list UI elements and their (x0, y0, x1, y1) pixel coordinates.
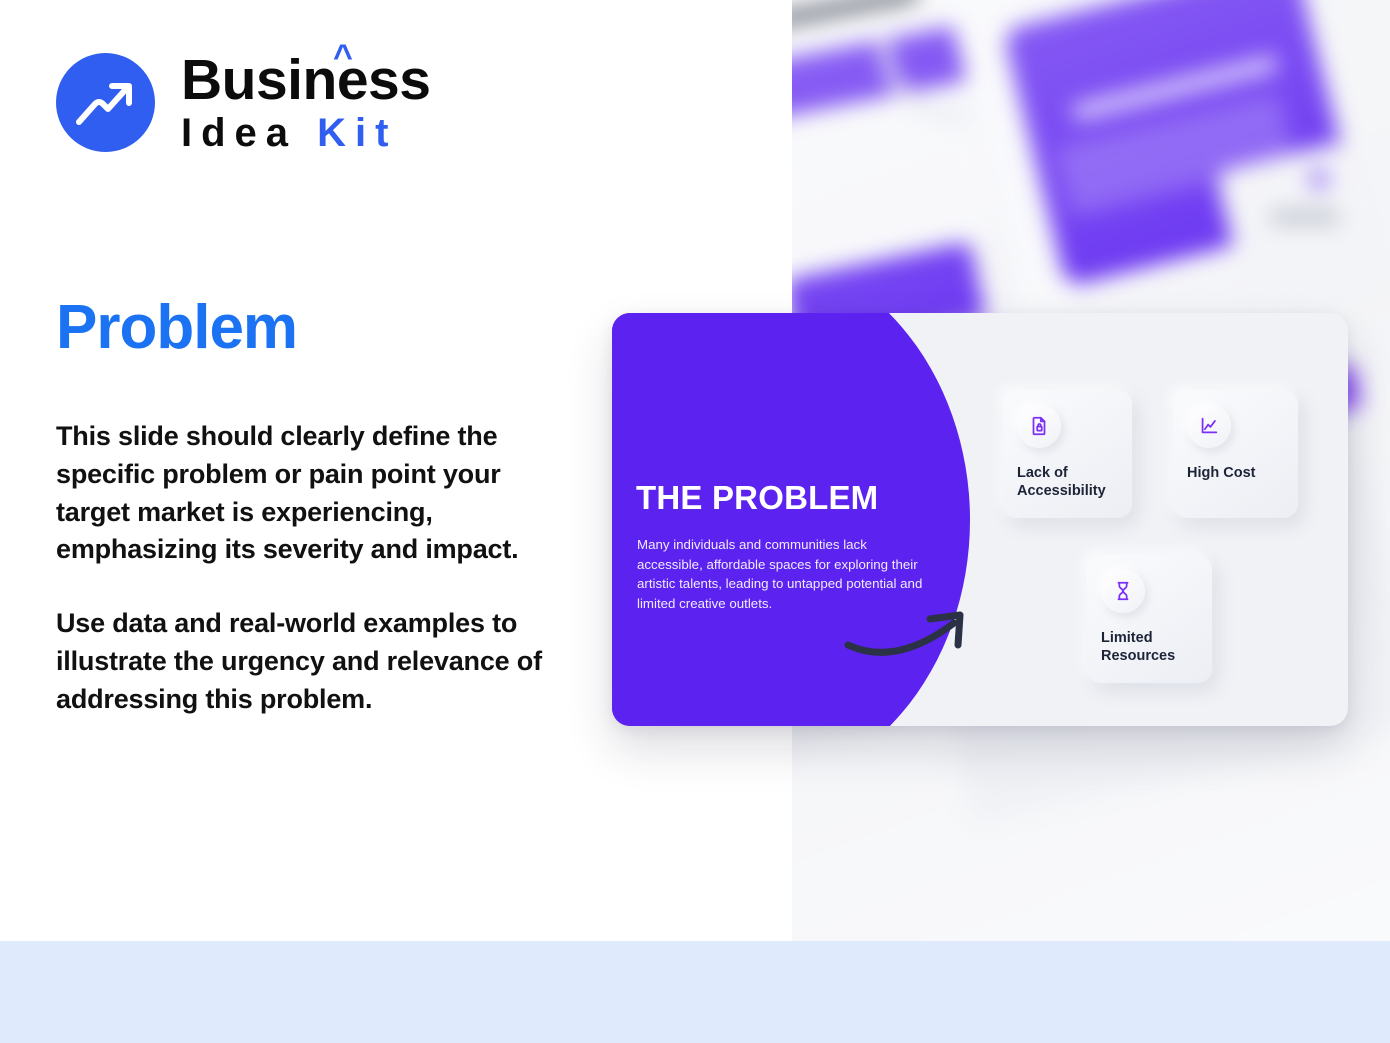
slide-canvas: Business ^ Idea Kit Problem This slide s… (0, 0, 1390, 1043)
brand-wordmark: Business ^ Idea Kit (181, 52, 430, 153)
feature-tile-limited-resources[interactable]: Limited Resources (1087, 555, 1212, 683)
hourglass-icon (1101, 569, 1145, 613)
brand-name-idea: Idea (181, 111, 297, 155)
feature-tile-label: High Cost (1187, 464, 1284, 482)
description-block: This slide should clearly define the spe… (56, 418, 566, 719)
description-paragraph-1: This slide should clearly define the spe… (56, 418, 566, 569)
brand-logo[interactable]: Business ^ Idea Kit (56, 52, 430, 153)
page-title: Problem (56, 295, 297, 360)
feature-tile-accessibility[interactable]: Lack of Accessibility (1003, 390, 1132, 518)
brand-name-line1: Business ^ (181, 52, 430, 109)
feature-tile-label: Lack of Accessibility (1017, 464, 1118, 500)
trend-arrow-circle-icon (56, 53, 155, 152)
brand-name-line2: Idea Kit (181, 113, 430, 153)
line-chart-icon (1187, 404, 1231, 448)
description-paragraph-2: Use data and real-world examples to illu… (56, 605, 566, 718)
feature-tile-high-cost[interactable]: High Cost (1173, 390, 1298, 518)
brand-name-kit: Kit (317, 111, 397, 155)
bottom-accent-band (0, 941, 1390, 1043)
curved-arrow-icon (844, 593, 1010, 661)
feature-tile-label: Limited Resources (1101, 629, 1198, 665)
brand-name-line1-text: Business (181, 48, 430, 112)
slide-heading: THE PROBLEM (636, 479, 878, 517)
brand-caret-accent: ^ (333, 40, 352, 74)
purple-blob-shape (612, 313, 970, 726)
slide-preview-card[interactable]: THE PROBLEM Many individuals and communi… (612, 313, 1348, 726)
document-lock-icon (1017, 404, 1061, 448)
